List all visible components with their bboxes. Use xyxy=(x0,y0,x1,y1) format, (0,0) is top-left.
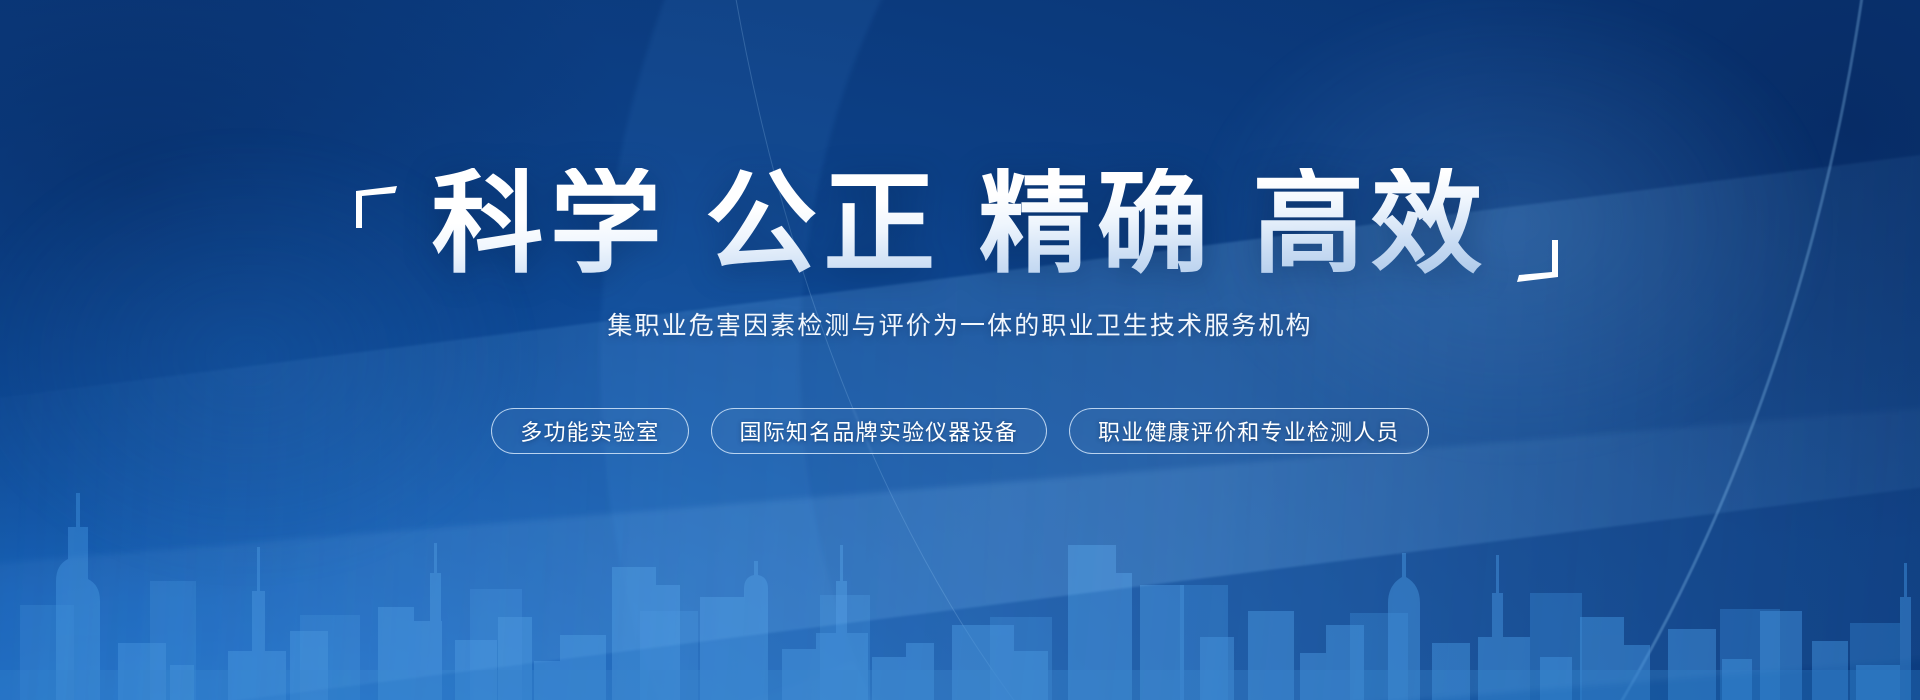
headline-block: 科学 公正 精确 高效 xyxy=(431,168,1488,280)
page-title: 科学 公正 精确 高效 xyxy=(431,168,1488,280)
banner-subtitle: 集职业危害因素检测与评价为一体的职业卫生技术服务机构 xyxy=(607,306,1312,342)
banner-content: 科学 公正 精确 高效 集职业危害因素检测与评价为一体的职业卫生技术服务机构 多… xyxy=(0,0,1920,700)
feature-pill-equipment[interactable]: 国际知名品牌实验仪器设备 xyxy=(711,408,1048,454)
feature-pill-group: 多功能实验室 国际知名品牌实验仪器设备 职业健康评价和专业检测人员 xyxy=(491,408,1429,454)
bracket-close-icon xyxy=(1515,238,1561,284)
hero-banner: 科学 公正 精确 高效 集职业危害因素检测与评价为一体的职业卫生技术服务机构 多… xyxy=(0,0,1920,700)
feature-pill-personnel[interactable]: 职业健康评价和专业检测人员 xyxy=(1069,408,1429,454)
feature-pill-lab[interactable]: 多功能实验室 xyxy=(491,408,688,454)
bracket-open-icon xyxy=(353,184,399,230)
